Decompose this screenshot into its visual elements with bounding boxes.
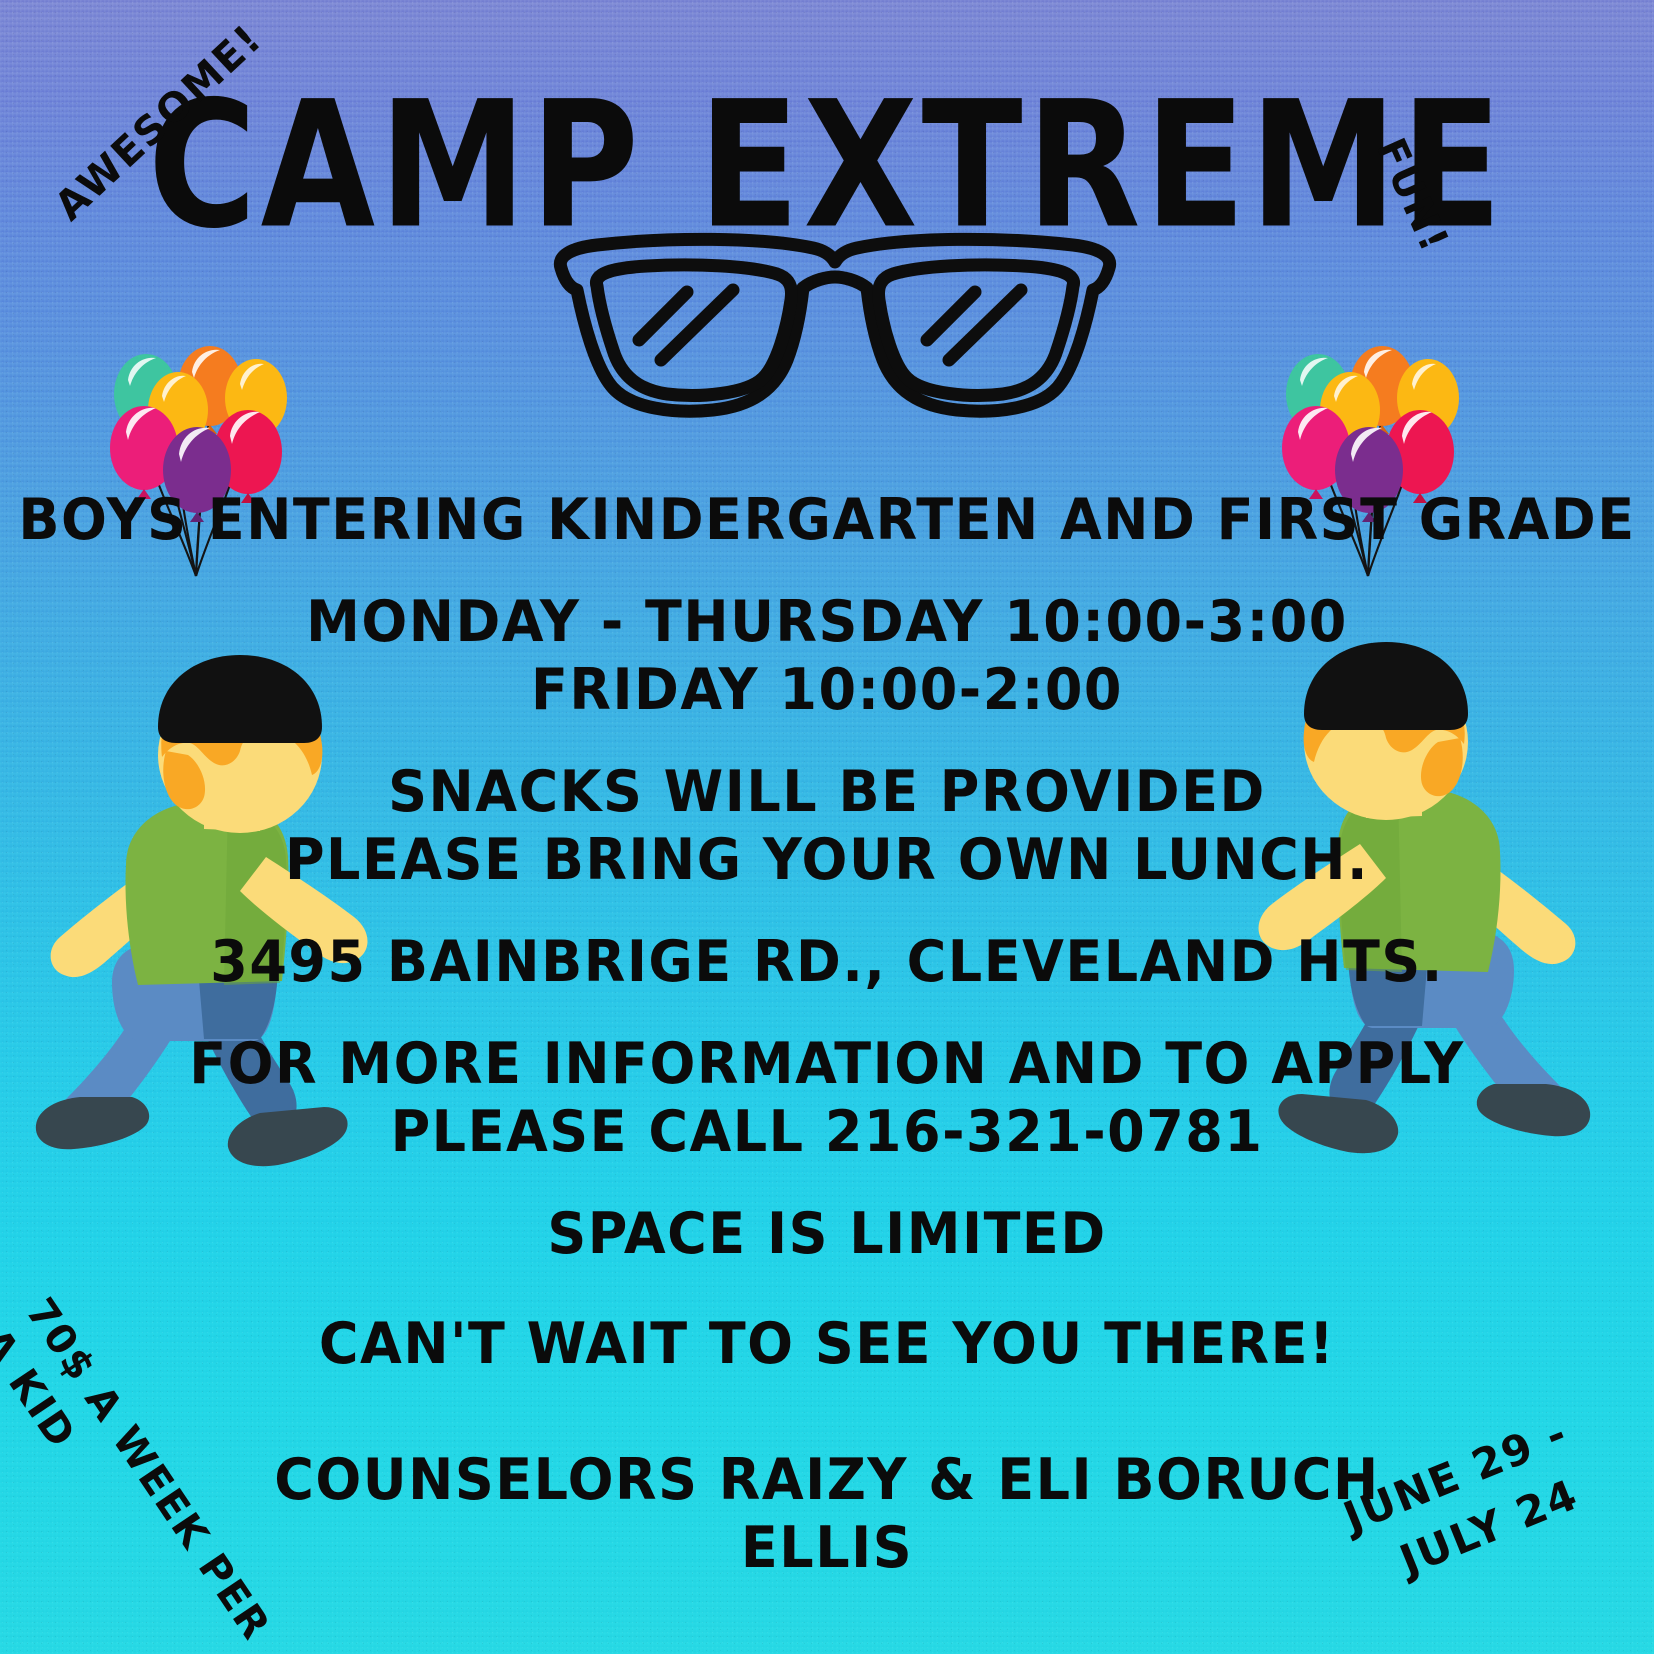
address-line: 3495 BAINBRIGE RD., CLEVELAND HTS. xyxy=(0,926,1654,998)
info-line: MONDAY - THURSDAY 10:00-3:00 xyxy=(0,586,1654,658)
info-line: SNACKS WILL BE PROVIDED xyxy=(0,756,1654,828)
info-block-audience: BOYS ENTERING KINDERGARTEN AND FIRST GRA… xyxy=(0,486,1654,554)
phone-line: PLEASE CALL 216-321-0781 xyxy=(0,1096,1654,1168)
info-line: FRIDAY 10:00-2:00 xyxy=(0,654,1654,726)
info-line: PLEASE BRING YOUR OWN LUNCH. xyxy=(0,824,1654,896)
info-block-contact: FOR MORE INFORMATION AND TO APPLY PLEASE… xyxy=(0,1030,1654,1166)
info-block-food: SNACKS WILL BE PROVIDED PLEASE BRING YOU… xyxy=(0,758,1654,894)
info-line: BOYS ENTERING KINDERGARTEN AND FIRST GRA… xyxy=(0,484,1654,556)
info-block-address: 3495 BAINBRIGE RD., CLEVELAND HTS. xyxy=(0,928,1654,996)
info-line: CAN'T WAIT TO SEE YOU THERE! xyxy=(0,1308,1654,1380)
info-block-hours: MONDAY - THURSDAY 10:00-3:00 FRIDAY 10:0… xyxy=(0,588,1654,724)
info-line: FOR MORE INFORMATION AND TO APPLY xyxy=(0,1028,1654,1100)
info-line: SPACE IS LIMITED xyxy=(0,1198,1654,1270)
info-block-closing: SPACE IS LIMITED CAN'T WAIT TO SEE YOU T… xyxy=(0,1200,1654,1378)
camp-flyer: CAMP EXTREME AWESOME! FUN! xyxy=(0,0,1654,1654)
flyer-body-copy: BOYS ENTERING KINDERGARTEN AND FIRST GRA… xyxy=(0,486,1654,1616)
